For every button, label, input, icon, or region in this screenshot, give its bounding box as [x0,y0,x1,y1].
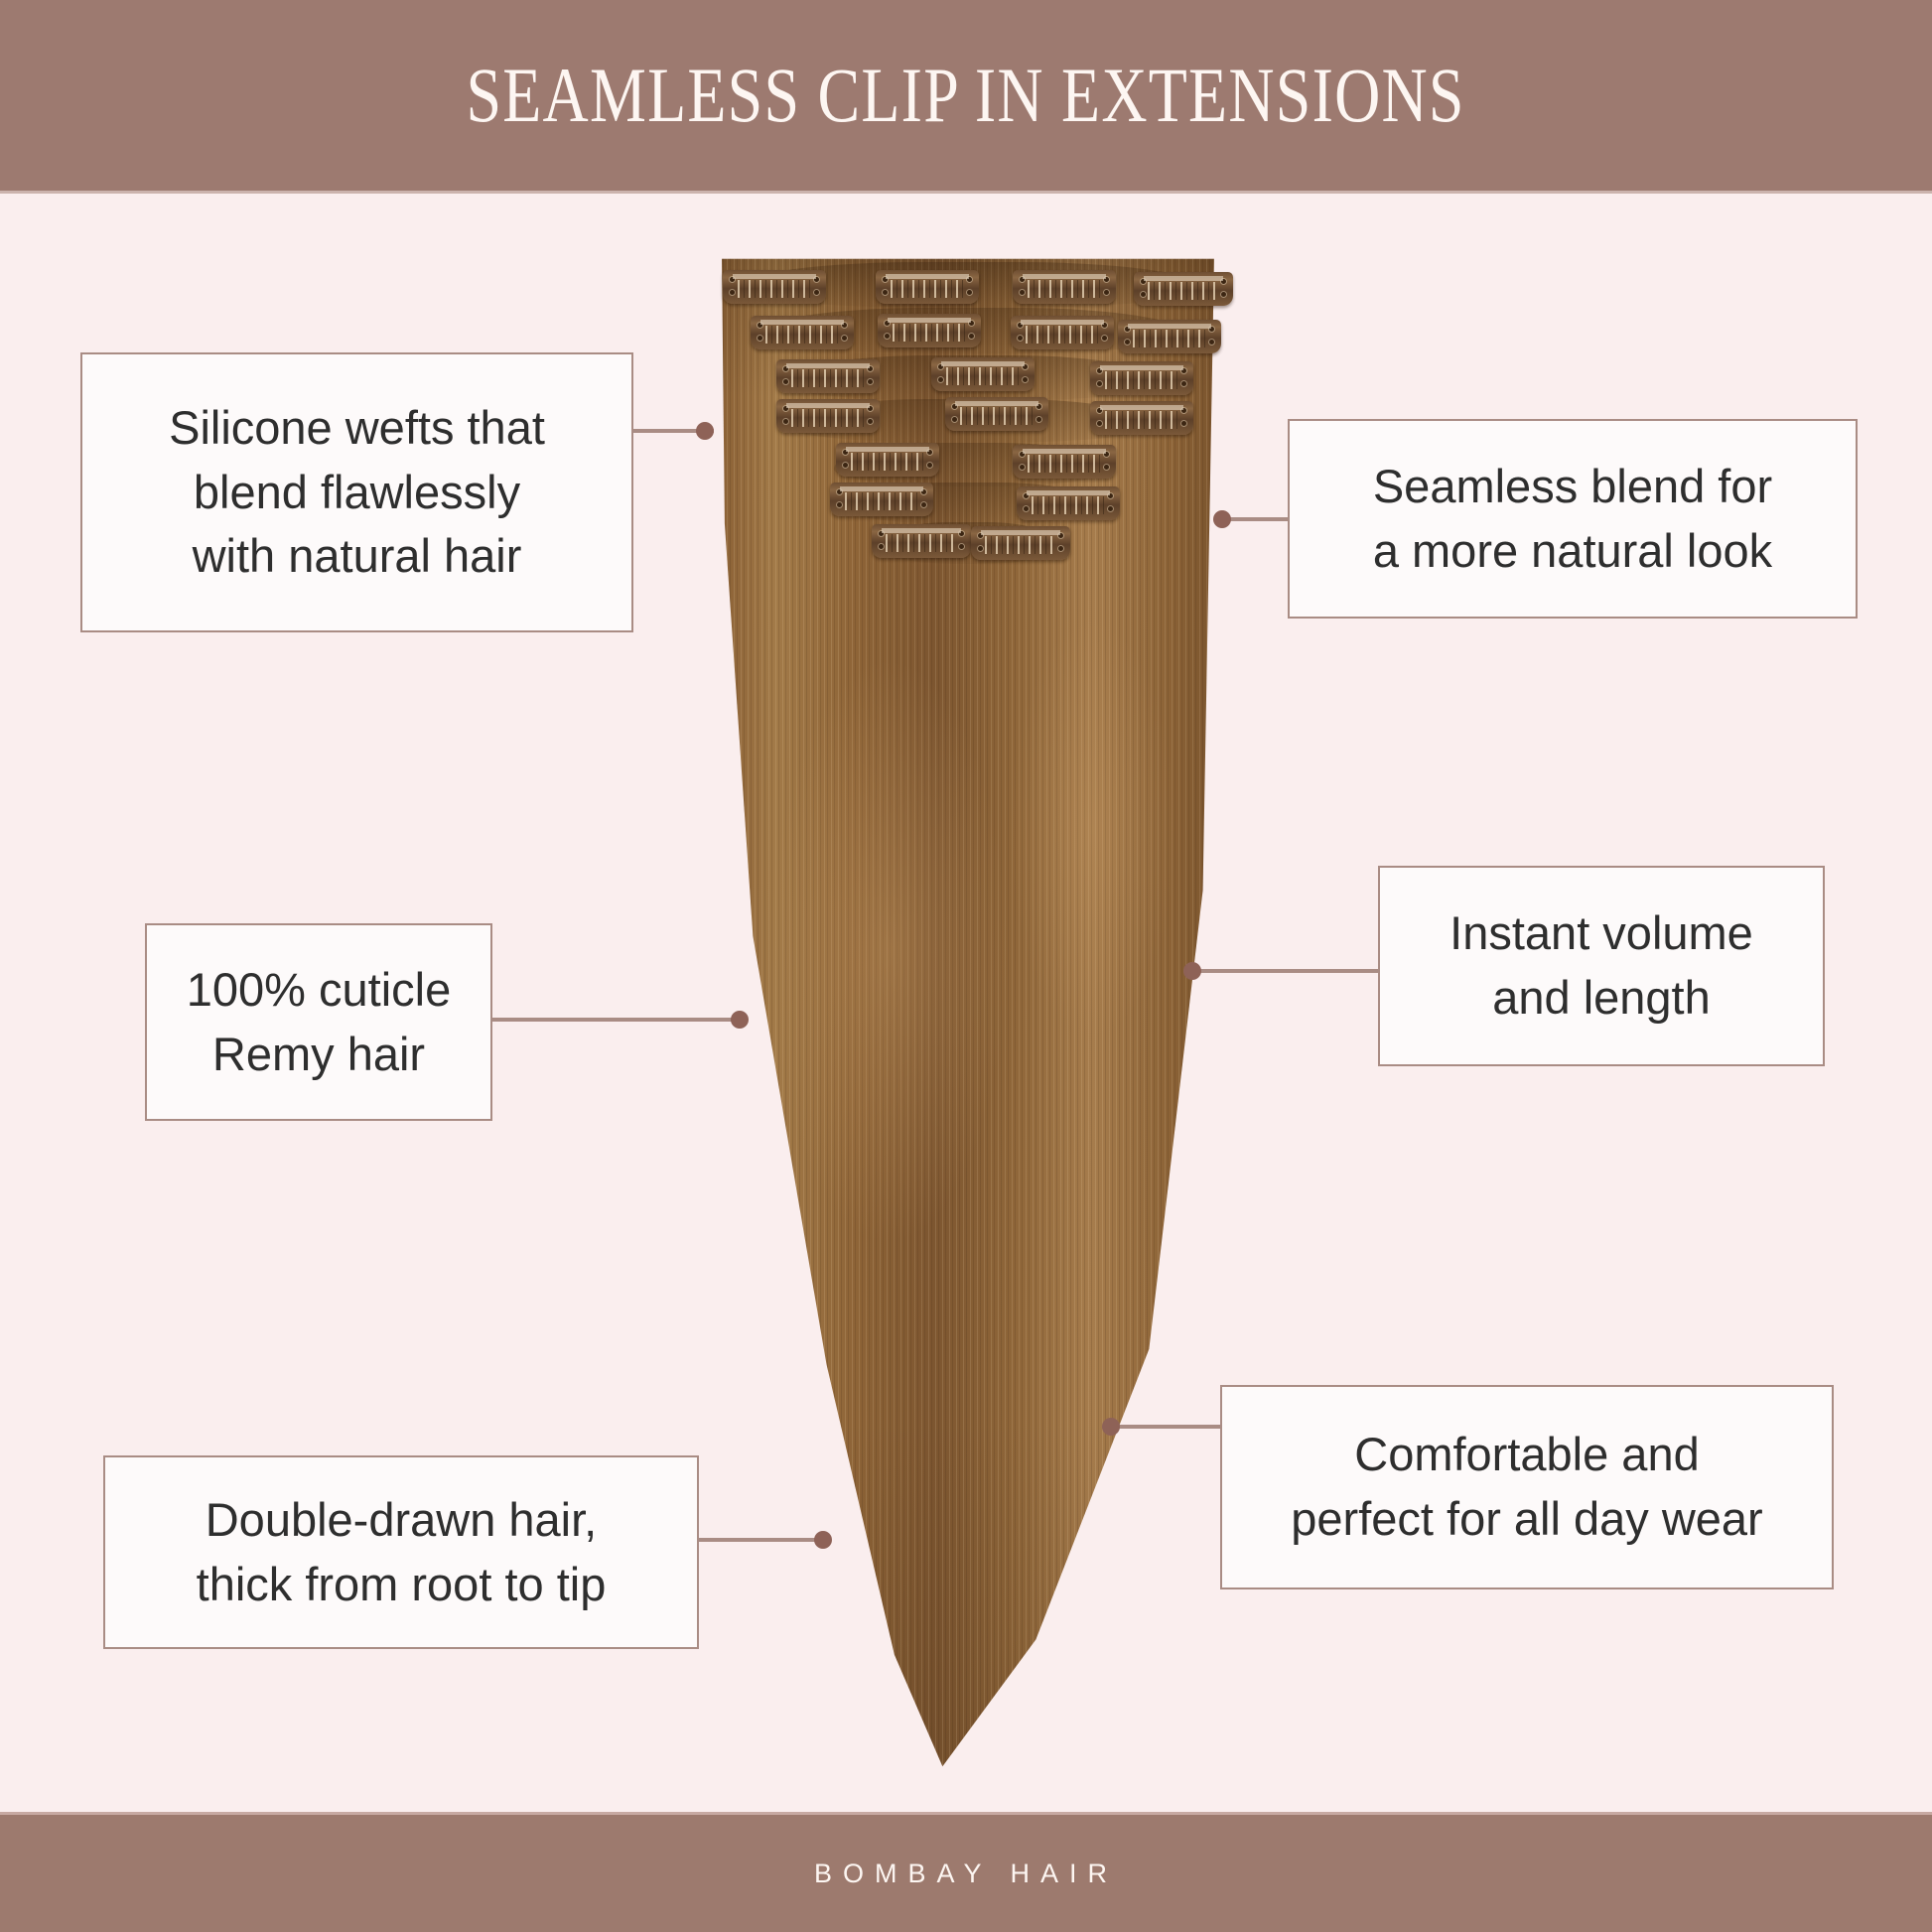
connector-line-double-drawn [698,1538,831,1542]
page-title: SEAMLESS CLIP IN EXTENSIONS [467,51,1465,140]
hair-clip [776,399,880,433]
hair-clip [876,270,979,304]
callout-silicone-wefts[interactable]: Silicone wefts that blend flawlessly wit… [80,352,633,632]
hair-clip [836,443,939,477]
hair-clip [1013,445,1116,479]
connector-line-all-day-wear [1116,1425,1221,1429]
hair-clip [872,524,971,558]
footer-bar: BOMBAY HAIR [0,1815,1932,1932]
connector-line-cuticle-remy [491,1018,748,1022]
brand-wordmark: BOMBAY HAIR [814,1859,1118,1889]
callout-all-day-wear[interactable]: Comfortable and perfect for all day wear [1220,1385,1834,1589]
product-image-hair-extensions [685,248,1251,1777]
callout-seamless-blend[interactable]: Seamless blend for a more natural look [1288,419,1858,619]
callout-instant-volume[interactable]: Instant volume and length [1378,866,1825,1066]
callout-text-all-day-wear: Comfortable and perfect for all day wear [1265,1423,1788,1552]
connector-dot-instant-volume [1183,962,1201,980]
header-divider [0,191,1932,194]
hair-clip [723,270,826,304]
hair-clip [1090,401,1193,435]
hair-clip [1017,486,1120,520]
callout-text-cuticle-remy: 100% cuticle Remy hair [161,958,478,1087]
connector-dot-silicone-wefts [696,422,714,440]
callout-text-seamless-blend: Seamless blend for a more natural look [1347,455,1798,584]
callout-text-silicone-wefts: Silicone wefts that blend flawlessly wit… [143,396,571,590]
hair-clip [1013,270,1116,304]
hair-clip [945,397,1048,431]
callout-cuticle-remy[interactable]: 100% cuticle Remy hair [145,923,492,1121]
connector-dot-double-drawn [814,1531,832,1549]
hair-clip [878,314,981,347]
callout-text-instant-volume: Instant volume and length [1424,901,1779,1031]
connector-line-instant-volume [1196,969,1379,973]
header-bar: SEAMLESS CLIP IN EXTENSIONS [0,0,1932,191]
hair-clip [1118,320,1221,353]
infographic-page: SEAMLESS CLIP IN EXTENSIONS [0,0,1932,1932]
connector-dot-cuticle-remy [731,1011,749,1029]
connector-line-seamless-blend [1227,517,1289,521]
connector-dot-seamless-blend [1213,510,1231,528]
hair-clip [751,316,854,349]
hair-clip [1134,272,1233,306]
hair-clip [1090,361,1193,395]
hair-clip [971,526,1070,560]
hair-clip [776,359,880,393]
hair-clip [1011,316,1114,349]
callout-double-drawn[interactable]: Double-drawn hair, thick from root to ti… [103,1455,699,1649]
hair-clip [931,357,1035,391]
hair-clip [830,483,933,516]
connector-dot-all-day-wear [1102,1418,1120,1436]
callout-text-double-drawn: Double-drawn hair, thick from root to ti… [171,1488,632,1617]
